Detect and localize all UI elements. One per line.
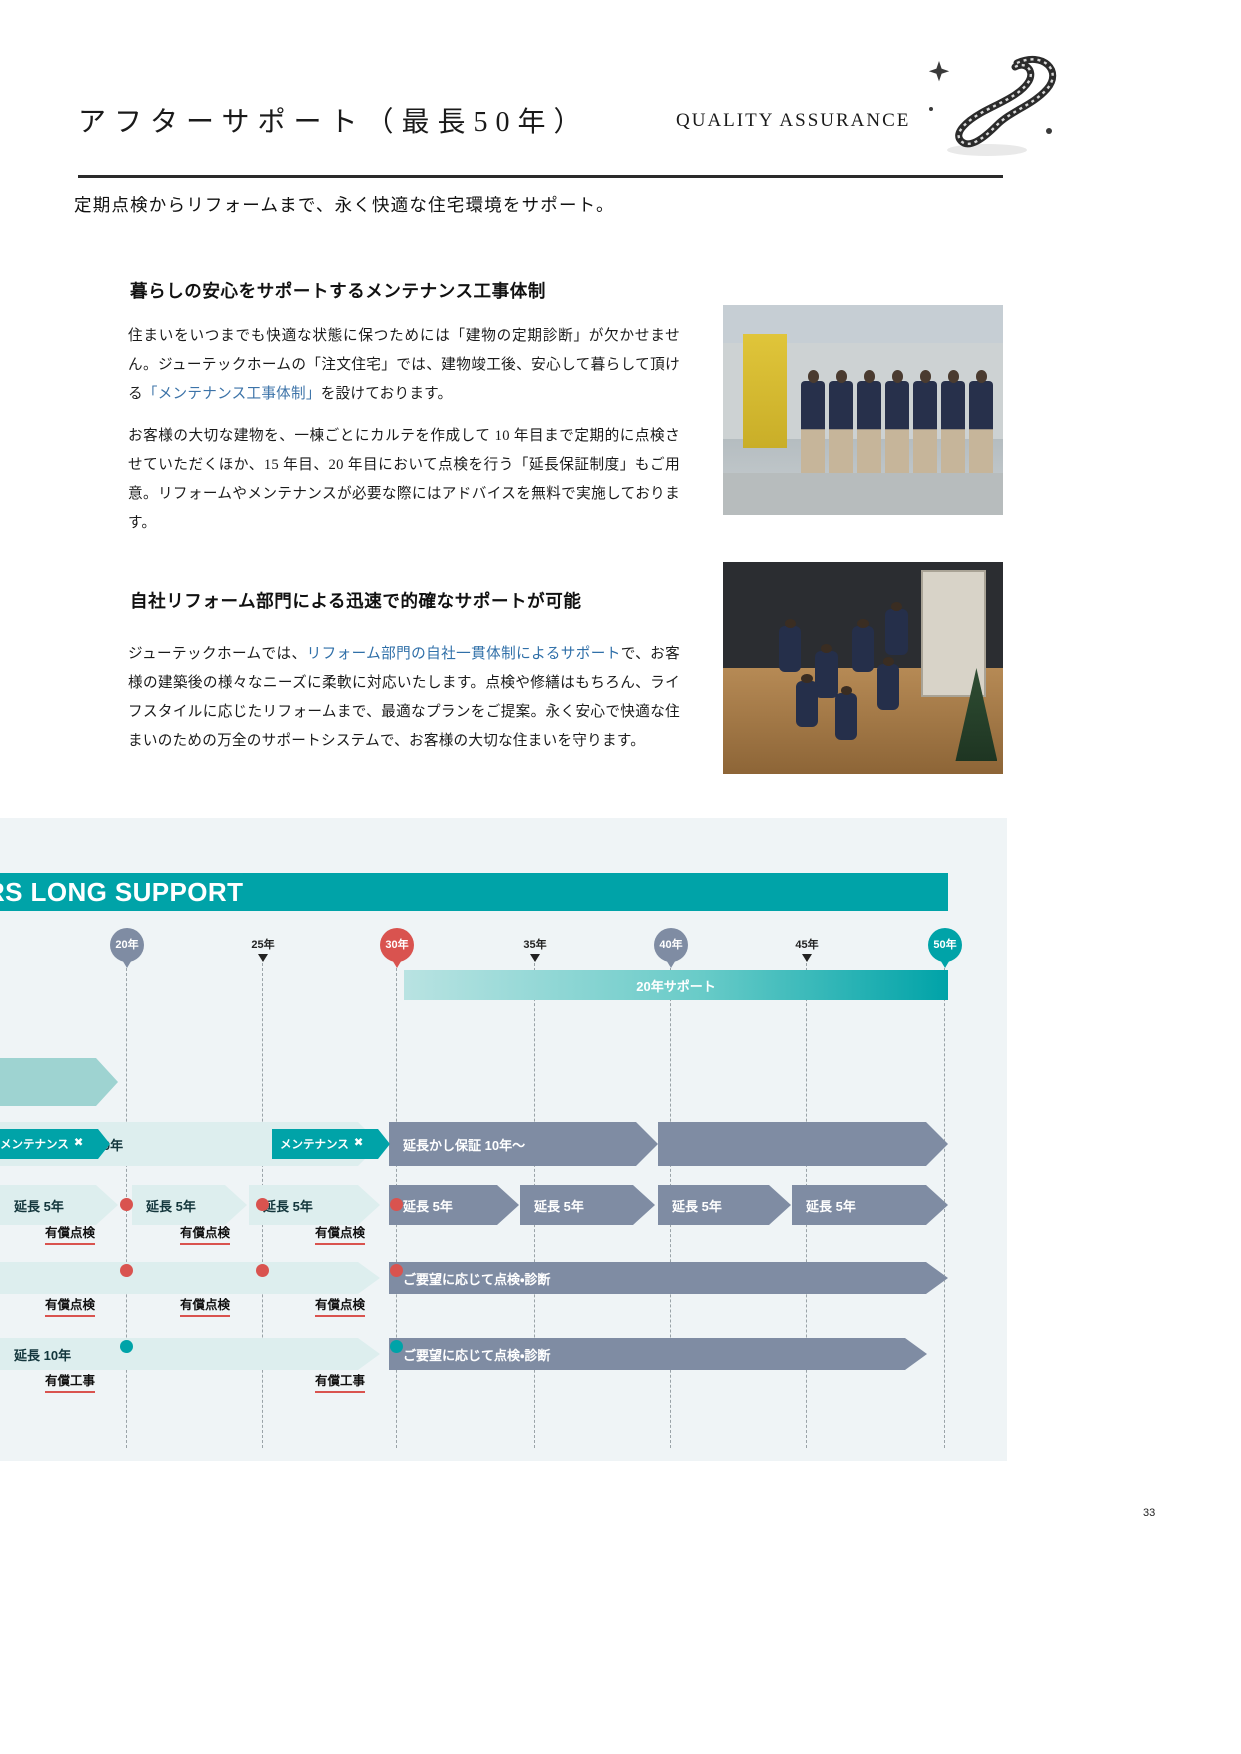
photo1-banner xyxy=(743,334,788,447)
section-1-paragraph-1: 住まいをいつまでも快適な状態に保つためには「建物の定期診断」が欠かせません。ジュ… xyxy=(128,322,680,409)
timeline-bar: 延長 5年 xyxy=(389,1185,519,1225)
photo1-person xyxy=(801,381,825,473)
timeline-bar-label: 延長 5年 xyxy=(146,1196,196,1215)
timeline-note-label: 有償点検 xyxy=(45,1222,95,1245)
section-1-paragraph-2: お客様の大切な建物を、一棟ごとにカルテを作成して 10 年目まで定期的に点検させ… xyxy=(128,422,680,538)
maintenance-tag: メンテナンス ✖ xyxy=(0,1129,110,1159)
timeline-year-tick: 35年 xyxy=(518,936,552,952)
timeline-bar: 延長 5年 xyxy=(132,1185,247,1225)
timeline-year-pin: 20年 xyxy=(110,928,144,970)
timeline-pin-tail-icon xyxy=(121,958,133,968)
timeline-bar-label: 延長 5年 xyxy=(672,1196,722,1215)
photo2-person xyxy=(796,681,818,728)
photo1-person xyxy=(857,381,881,473)
timeline-node-dot xyxy=(390,1198,403,1211)
wrench-icon: ✖ xyxy=(354,1138,364,1150)
photo1-person xyxy=(969,381,993,473)
photo2-person xyxy=(852,626,874,673)
timeline-note-label: 有償点検 xyxy=(315,1222,365,1245)
timeline-pin-tail-icon xyxy=(939,958,951,968)
timeline-year-label: 30年 xyxy=(380,928,414,962)
timeline-bar-label: 延長 5年 xyxy=(14,1196,64,1215)
ribbon-decoration-icon xyxy=(925,45,1065,165)
page-number: 33 xyxy=(1143,1507,1155,1519)
wrench-icon: ✖ xyxy=(74,1138,84,1150)
photo2-person xyxy=(815,651,837,698)
photo2-person xyxy=(835,693,857,740)
photo1-person xyxy=(941,381,965,473)
timeline-node-dot xyxy=(390,1340,403,1353)
timeline-bar: 延長かし保証 10年〜 xyxy=(389,1122,658,1166)
timeline-node-dot xyxy=(256,1264,269,1277)
timeline-bar-label: ご要望に応じて点検・診断 xyxy=(403,1269,550,1288)
timeline-bar-label: ご要望に応じて点検・診断 xyxy=(403,1345,550,1364)
page-subtitle: 定期点検からリフォームまで、永く快適な住宅環境をサポート。 xyxy=(74,192,615,217)
maintenance-tag-label: メンテナンス xyxy=(280,1136,349,1152)
timeline-note-label: 有償工事 xyxy=(315,1370,365,1393)
timeline-year-label: 20年 xyxy=(110,928,144,962)
section-2-heading: 自社リフォーム部門による迅速で的確なサポートが可能 xyxy=(130,588,581,613)
sec1-p1-highlight: 「メンテナンス工事体制」 xyxy=(143,386,321,402)
timeline-bar-label: 延長 5年 xyxy=(263,1196,313,1215)
timeline-note-label: 有償点検 xyxy=(180,1294,230,1317)
header-divider xyxy=(78,175,1003,178)
timeline-pin-tail-icon xyxy=(665,958,677,968)
timeline-bar: 延長 5年 xyxy=(658,1185,791,1225)
timeline-bar-label: 延長 10年 xyxy=(14,1345,71,1364)
timeline-year-pin: 50年 xyxy=(928,928,962,970)
timeline-note-label: 有償点検 xyxy=(180,1222,230,1245)
timeline-bar-label: 20年サポート xyxy=(636,976,715,995)
photo1-person xyxy=(829,381,853,473)
photo2-person xyxy=(779,626,801,673)
photo1-ground xyxy=(723,473,1003,515)
page-header: アフターサポート（最長50年） QUALITY ASSURANCE 定期点検から… xyxy=(0,0,1241,190)
timeline-year-arrow-icon xyxy=(258,954,268,962)
timeline-bar: 延長 5年 xyxy=(792,1185,948,1225)
timeline-node-dot xyxy=(120,1264,133,1277)
timeline-bar: 延長 5年 xyxy=(520,1185,655,1225)
timeline-banner-title: RS LONG SUPPORT xyxy=(0,877,586,907)
timeline-node-dot xyxy=(120,1340,133,1353)
timeline-year-pin: 30年 xyxy=(380,928,414,970)
maintenance-tag-label: メンテナンス xyxy=(0,1136,69,1152)
timeline-bar xyxy=(0,1058,118,1106)
timeline-bar: ご要望に応じて点検・診断 xyxy=(389,1338,927,1370)
timeline-note-label: 有償工事 xyxy=(45,1370,95,1393)
timeline-year-arrow-icon xyxy=(802,954,812,962)
timeline-year-label: 40年 xyxy=(654,928,688,962)
photo2-person xyxy=(877,664,899,711)
maintenance-tag: メンテナンス ✖ xyxy=(272,1129,390,1159)
timeline-node-dot xyxy=(120,1198,133,1211)
timeline-year-tick: 45年 xyxy=(790,936,824,952)
timeline-bar-label: 延長 5年 xyxy=(403,1196,453,1215)
timeline-note-label: 有償点検 xyxy=(315,1294,365,1317)
timeline-year-tick: 25年 xyxy=(246,936,280,952)
photo1-person xyxy=(913,381,937,473)
page-title: アフターサポート（最長50年） xyxy=(78,100,589,140)
photo1-person xyxy=(885,381,909,473)
section-1-heading: 暮らしの安心をサポートするメンテナンス工事体制 xyxy=(130,278,546,303)
timeline-node-dot xyxy=(390,1264,403,1277)
timeline-bar: 延長 5年 xyxy=(0,1185,118,1225)
photo-staff-with-banner xyxy=(723,305,1003,515)
section-eyebrow-label: QUALITY ASSURANCE xyxy=(676,110,910,132)
timeline-node-dot xyxy=(256,1198,269,1211)
timeline-bar: 延長 10年 xyxy=(0,1338,380,1370)
timeline-bar xyxy=(658,1122,948,1166)
sec2-p1-text-before: ジューテックホームでは、 xyxy=(128,646,307,662)
sec2-p1-highlight: リフォーム部門の自社一貫体制によるサポート xyxy=(307,646,621,662)
timeline-note-label: 有償点検 xyxy=(45,1294,95,1317)
timeline-bar-label: 延長 5年 xyxy=(534,1196,584,1215)
timeline-year-pin: 40年 xyxy=(654,928,688,970)
timeline-bar xyxy=(0,1262,380,1294)
timeline-pin-tail-icon xyxy=(391,958,403,968)
timeline-bar-label: 延長 5年 xyxy=(806,1196,856,1215)
timeline-bar: 20年サポート xyxy=(404,970,948,1000)
section-2-paragraph-1: ジューテックホームでは、リフォーム部門の自社一貫体制によるサポートで、お客様の建… xyxy=(128,640,680,756)
photo-staff-interior xyxy=(723,562,1003,774)
timeline-bar: ご要望に応じて点検・診断 xyxy=(389,1262,948,1294)
photo2-person xyxy=(885,609,907,656)
timeline-year-label: 50年 xyxy=(928,928,962,962)
timeline-bar-label: 延長かし保証 10年〜 xyxy=(403,1135,525,1154)
timeline-year-arrow-icon xyxy=(530,954,540,962)
sec1-p1-text-after: を設けております。 xyxy=(321,386,453,402)
